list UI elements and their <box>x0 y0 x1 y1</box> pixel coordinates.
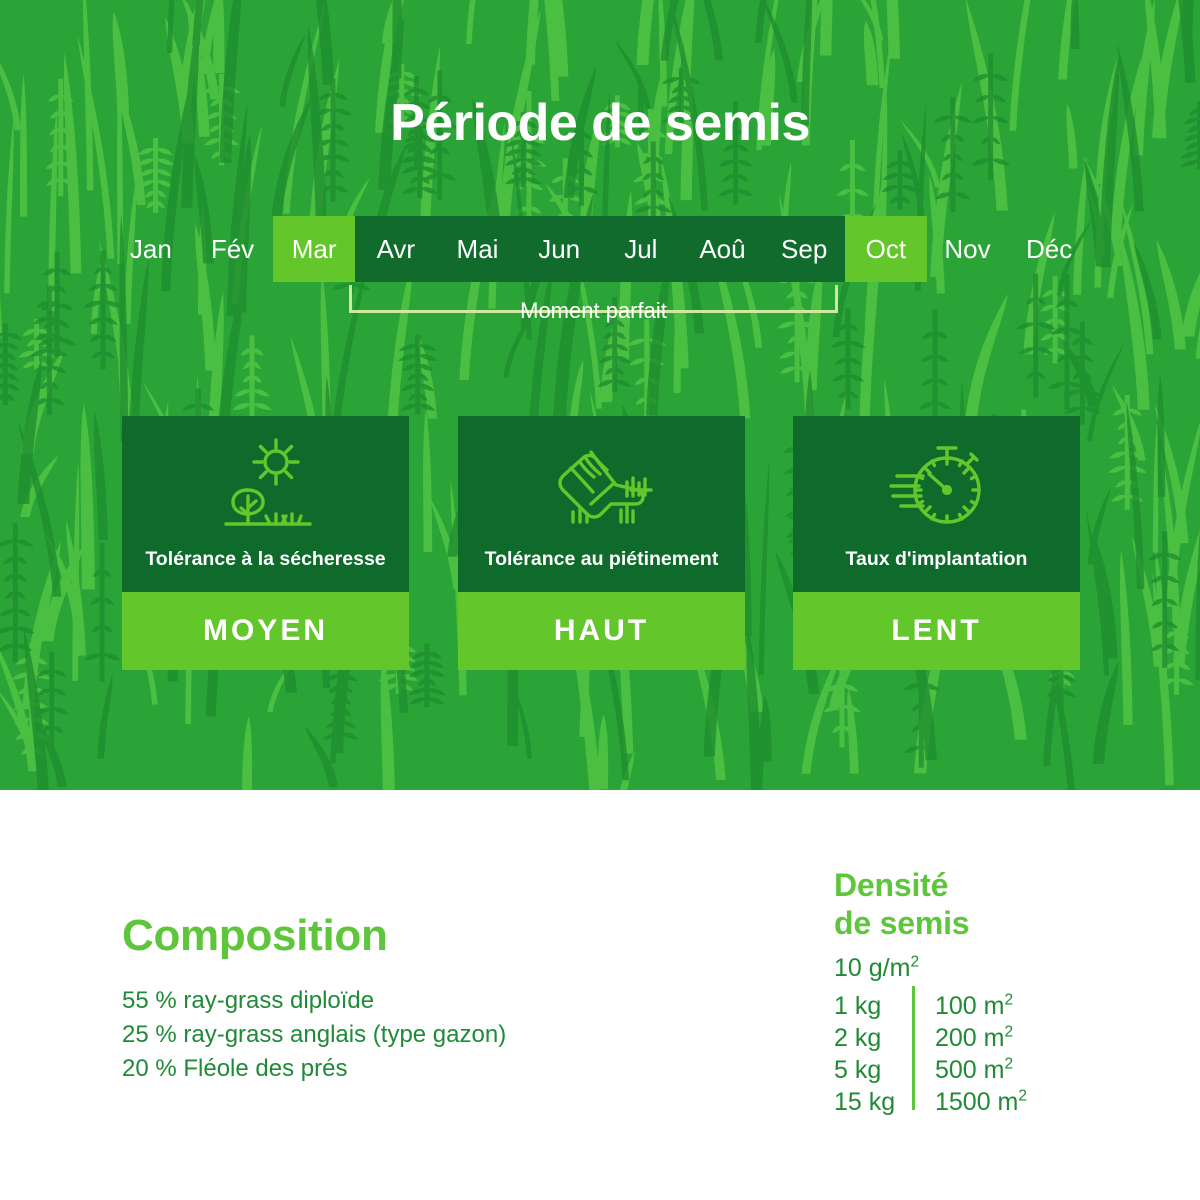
composition-item: 55 % ray-grass diploïde <box>122 984 682 1018</box>
density-title-line2: de semis <box>834 904 969 942</box>
density-row: 2 kg200 m2 <box>834 1022 1094 1054</box>
density-area: 500 m2 <box>935 1054 1013 1086</box>
month-label: Oct <box>866 234 906 264</box>
month-jan[interactable]: Jan <box>110 216 192 282</box>
sun-tree-grass-icon <box>122 434 409 538</box>
trait-cards: Tolérance à la sécheresseMOYEN Tolérance… <box>122 416 1078 670</box>
density-row: 15 kg1500 m2 <box>834 1086 1094 1118</box>
trait-label: Tolérance au piétinement <box>464 546 739 572</box>
month-label: Déc <box>1026 234 1072 264</box>
month-mar[interactable]: Mar <box>273 216 355 282</box>
month-label: Jan <box>130 234 172 264</box>
trait-card-header: Tolérance à la sécheresse <box>122 416 409 592</box>
month-fév[interactable]: Fév <box>192 216 274 282</box>
composition-item: 25 % ray-grass anglais (type gazon) <box>122 1018 682 1052</box>
page-title: Période de semis <box>0 92 1200 154</box>
month-jul[interactable]: Jul <box>600 216 682 282</box>
month-label: Aoû <box>699 234 745 264</box>
trait-label: Tolérance à la sécheresse <box>128 546 403 572</box>
density-area-value: 1500 m <box>935 1088 1018 1116</box>
trait-card-header: Tolérance au piétinement <box>458 416 745 592</box>
trait-card-header: Taux d'implantation <box>793 416 1080 592</box>
month-label: Avr <box>377 234 416 264</box>
month-label: Nov <box>944 234 990 264</box>
month-nov[interactable]: Nov <box>927 216 1009 282</box>
month-mai[interactable]: Mai <box>437 216 519 282</box>
density-rate-unit: 2 <box>910 954 919 971</box>
month-déc[interactable]: Déc <box>1008 216 1090 282</box>
trait-value-badge: LENT <box>793 592 1080 670</box>
trait-card: Tolérance à la sécheresseMOYEN <box>122 416 409 670</box>
density-area-value: 200 m <box>935 1024 1004 1052</box>
density-area: 1500 m2 <box>935 1086 1027 1118</box>
month-oct[interactable]: Oct <box>845 216 927 282</box>
month-jun[interactable]: Jun <box>518 216 600 282</box>
month-label: Jun <box>538 234 580 264</box>
sneaker-on-grass-icon <box>458 434 745 538</box>
density-area: 100 m2 <box>935 990 1013 1022</box>
month-label: Jul <box>624 234 657 264</box>
composition-list: 55 % ray-grass diploïde25 % ray-grass an… <box>122 984 682 1086</box>
month-label: Fév <box>211 234 254 264</box>
density-area-unit: 2 <box>1004 1056 1013 1073</box>
density-area-unit: 2 <box>1018 1088 1027 1105</box>
trait-value-badge: MOYEN <box>122 592 409 670</box>
composition-title: Composition <box>122 910 388 962</box>
density-table: 1 kg100 m22 kg200 m25 kg500 m215 kg1500 … <box>834 990 1094 1118</box>
perfect-moment-text: Moment parfait <box>506 298 681 323</box>
trait-value-badge: HAUT <box>458 592 745 670</box>
density-area-unit: 2 <box>1004 992 1013 1009</box>
density-quantity: 15 kg <box>834 1086 904 1118</box>
density-title-line1: Densité <box>834 866 969 904</box>
density-rate-value: 10 g/m <box>834 954 910 982</box>
density-area-unit: 2 <box>1004 1024 1013 1041</box>
density-area-value: 500 m <box>935 1056 1004 1084</box>
density-rate: 10 g/m2 <box>834 952 919 984</box>
density-area-value: 100 m <box>935 992 1004 1020</box>
trait-card: Tolérance au piétinementHAUT <box>458 416 745 670</box>
perfect-moment-label: Moment parfait <box>349 296 838 326</box>
density-area: 200 m2 <box>935 1022 1013 1054</box>
month-aoû[interactable]: Aoû <box>682 216 764 282</box>
density-quantity: 1 kg <box>834 990 904 1022</box>
trait-label: Taux d'implantation <box>799 546 1074 572</box>
density-row: 5 kg500 m2 <box>834 1054 1094 1086</box>
month-label: Sep <box>781 234 827 264</box>
composition-item: 20 % Fléole des prés <box>122 1052 682 1086</box>
month-label: Mai <box>457 234 499 264</box>
month-avr[interactable]: Avr <box>355 216 437 282</box>
sowing-month-timeline: JanFévMarAvrMaiJunJulAoûSepOctNovDéc <box>110 216 1090 282</box>
trait-card: Taux d'implantationLENT <box>793 416 1080 670</box>
month-sep[interactable]: Sep <box>763 216 845 282</box>
density-row: 1 kg100 m2 <box>834 990 1094 1022</box>
hero-panel: Période de semis JanFévMarAvrMaiJunJulAo… <box>0 0 1200 790</box>
density-quantity: 5 kg <box>834 1054 904 1086</box>
stopwatch-speed-icon <box>793 434 1080 538</box>
month-label: Mar <box>292 234 337 264</box>
density-quantity: 2 kg <box>834 1022 904 1054</box>
density-title: Densité de semis <box>834 866 969 942</box>
details-panel: Composition 55 % ray-grass diploïde25 % … <box>0 790 1200 1200</box>
seed-info-infographic: Période de semis JanFévMarAvrMaiJunJulAo… <box>0 0 1200 1200</box>
